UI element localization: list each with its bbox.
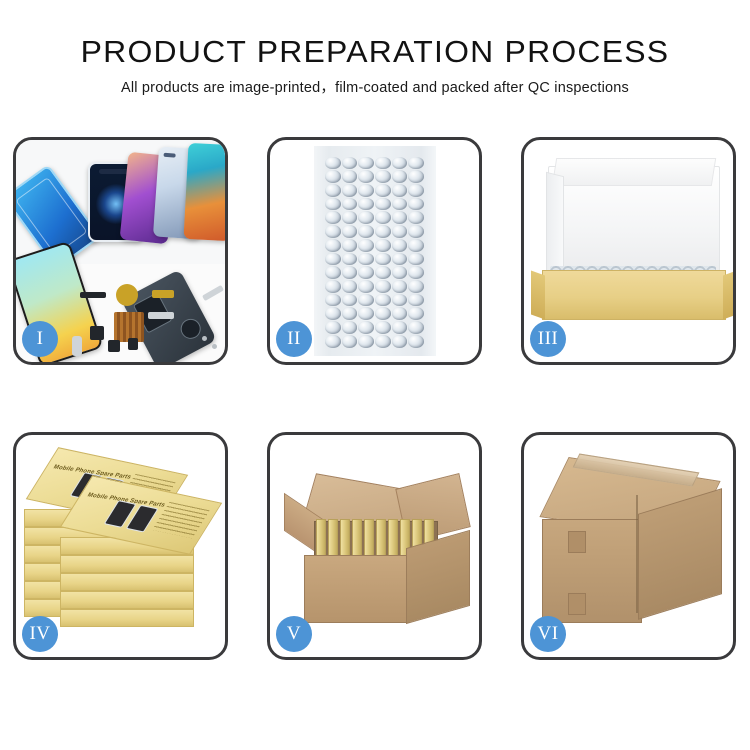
bubble bbox=[375, 170, 391, 183]
process-step-3: III bbox=[521, 137, 736, 365]
kraft-box-base bbox=[542, 270, 726, 320]
bubble bbox=[408, 239, 424, 252]
bubble bbox=[375, 211, 391, 224]
carton-front-face bbox=[542, 519, 642, 623]
bubble bbox=[392, 266, 408, 279]
bubble bbox=[408, 294, 424, 307]
white-lid-top-panel bbox=[552, 158, 716, 186]
bubble bbox=[358, 280, 374, 293]
bubble bbox=[342, 239, 358, 252]
bubble bbox=[375, 225, 391, 238]
bubble bbox=[358, 157, 374, 170]
bubble bbox=[408, 198, 424, 211]
bubble bbox=[342, 170, 358, 183]
bubble bbox=[342, 280, 358, 293]
bubble bbox=[342, 198, 358, 211]
box-edge bbox=[60, 609, 194, 627]
bubble bbox=[342, 294, 358, 307]
bubble bbox=[342, 225, 358, 238]
bubble bbox=[375, 157, 391, 170]
process-step-5: V bbox=[267, 432, 482, 660]
bubble bbox=[342, 266, 358, 279]
bubble bbox=[408, 335, 424, 348]
bubble bbox=[342, 184, 358, 197]
step-badge-6: VI bbox=[530, 616, 566, 652]
bubble bbox=[325, 253, 341, 266]
bubble bbox=[342, 335, 358, 348]
bubble bbox=[358, 170, 374, 183]
bubble bbox=[325, 280, 341, 293]
bubble bbox=[408, 184, 424, 197]
page-subtitle: All products are image-printed，film-coat… bbox=[0, 79, 750, 97]
bubble bbox=[392, 307, 408, 320]
bubble bbox=[325, 225, 341, 238]
step-badge-4: IV bbox=[22, 616, 58, 652]
bubble bbox=[325, 170, 341, 183]
bubble bbox=[375, 198, 391, 211]
speaker-part bbox=[80, 292, 106, 298]
bubble bbox=[392, 225, 408, 238]
carton-corner-seam bbox=[636, 495, 638, 613]
bubble bbox=[358, 307, 374, 320]
bubble bbox=[375, 266, 391, 279]
bubble bbox=[392, 335, 408, 348]
box-edge bbox=[60, 573, 194, 591]
sim-tray-part bbox=[72, 336, 82, 356]
bubble bbox=[358, 239, 374, 252]
step-badge-5: V bbox=[276, 616, 312, 652]
bubble bbox=[358, 321, 374, 334]
page-header: PRODUCT PREPARATION PROCESS All products… bbox=[0, 0, 750, 97]
screw-part bbox=[212, 344, 217, 349]
product-preparation-page: PRODUCT PREPARATION PROCESS All products… bbox=[0, 0, 750, 750]
bubble bbox=[358, 266, 374, 279]
bubble bbox=[325, 294, 341, 307]
bubble bbox=[408, 225, 424, 238]
bubble bbox=[358, 198, 374, 211]
bubble bbox=[375, 321, 391, 334]
bubble bbox=[392, 170, 408, 183]
bubble-grid bbox=[325, 156, 425, 348]
bubble bbox=[358, 253, 374, 266]
bubble bbox=[342, 157, 358, 170]
bubble bbox=[408, 321, 424, 334]
bubble bbox=[325, 184, 341, 197]
bubble bbox=[392, 239, 408, 252]
bubble bbox=[408, 170, 424, 183]
gold-coil-part bbox=[116, 284, 138, 306]
bubble bbox=[325, 266, 341, 279]
bubble bbox=[358, 225, 374, 238]
bubble bbox=[392, 198, 408, 211]
bubble bbox=[375, 253, 391, 266]
bubble bbox=[375, 184, 391, 197]
process-step-2: II bbox=[267, 137, 482, 365]
box-edge bbox=[60, 555, 194, 573]
screw-part bbox=[202, 336, 207, 341]
bubble bbox=[392, 211, 408, 224]
bubble bbox=[342, 321, 358, 334]
process-step-6: VI bbox=[521, 432, 736, 660]
bubble bbox=[408, 253, 424, 266]
white-lid-side-flap bbox=[546, 172, 564, 278]
bubble bbox=[358, 184, 374, 197]
bubble bbox=[408, 157, 424, 170]
bubble bbox=[392, 253, 408, 266]
bubble bbox=[325, 211, 341, 224]
bubble bbox=[392, 280, 408, 293]
bubble bbox=[325, 307, 341, 320]
bubble bbox=[325, 198, 341, 211]
bubble bbox=[392, 157, 408, 170]
bubble bbox=[358, 335, 374, 348]
camera-module-part bbox=[90, 326, 104, 340]
bubble bbox=[375, 307, 391, 320]
button-part bbox=[128, 338, 138, 350]
bubble bbox=[408, 280, 424, 293]
bubble bbox=[325, 239, 341, 252]
bubble bbox=[375, 294, 391, 307]
bubble bbox=[375, 335, 391, 348]
bubble bbox=[408, 211, 424, 224]
process-step-4: Mobile Phone Spare Parts Mobile Phone Sp… bbox=[13, 432, 228, 660]
process-step-1: I bbox=[13, 137, 228, 365]
process-step-grid: I II III bbox=[13, 137, 737, 660]
step-badge-1: I bbox=[22, 321, 58, 357]
tweezers-part bbox=[202, 285, 224, 301]
vibrator-part bbox=[108, 340, 120, 352]
carton-front-face bbox=[304, 555, 410, 623]
bubble bbox=[375, 280, 391, 293]
carton-flap-tab bbox=[568, 531, 586, 553]
bubble bbox=[392, 184, 408, 197]
bubble bbox=[325, 157, 341, 170]
page-title: PRODUCT PREPARATION PROCESS bbox=[0, 34, 750, 70]
bubble bbox=[408, 307, 424, 320]
bubble bbox=[392, 294, 408, 307]
bubble bbox=[342, 211, 358, 224]
bubble bbox=[342, 307, 358, 320]
orange-gradient-phone bbox=[184, 143, 225, 241]
carton-flap-tab bbox=[568, 593, 586, 615]
bubble bbox=[325, 335, 341, 348]
bubble bbox=[358, 211, 374, 224]
bubble bbox=[408, 266, 424, 279]
flex-cable-part bbox=[152, 290, 174, 298]
ribbon-cable-part bbox=[148, 312, 174, 319]
step-badge-3: III bbox=[530, 321, 566, 357]
bubble bbox=[358, 294, 374, 307]
bubble bbox=[342, 253, 358, 266]
bubble bbox=[325, 321, 341, 334]
box-edge bbox=[60, 591, 194, 609]
step-badge-2: II bbox=[276, 321, 312, 357]
bubble bbox=[392, 321, 408, 334]
bubble bbox=[375, 239, 391, 252]
